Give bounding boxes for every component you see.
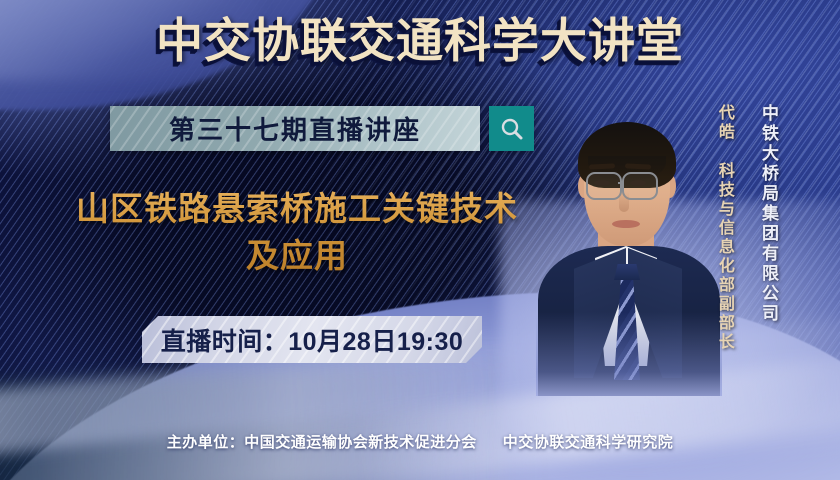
photo-glasses-left-lens — [586, 172, 622, 200]
photo-mouth — [612, 220, 640, 228]
footer-co-organizer: 中交协联交通科学研究院 — [503, 434, 674, 451]
photo-glasses-bridge — [618, 182, 624, 184]
session-label-text: 第三十七期直播讲座 — [169, 110, 421, 147]
live-time-text: 直播时间：10月28日19:30 — [161, 322, 464, 358]
lecture-topic-line-1: 山区铁路悬索桥施工关键技术 — [24, 186, 570, 233]
live-time-bar: 直播时间：10月28日19:30 — [142, 316, 482, 363]
search-button[interactable] — [489, 106, 534, 151]
session-label-bar: 第三十七期直播讲座 — [110, 106, 480, 151]
main-title-container: 中交协联交通科学大讲堂 — [0, 16, 840, 65]
speaker-organization: 中铁大桥局集团有限公司 — [758, 104, 778, 324]
photo-nose — [619, 192, 629, 212]
footer-organizers: 主办单位：中国交通运输协会新技术促进分会中交协联交通科学研究院 — [0, 431, 840, 452]
footer-organizer-label: 主办单位：中国交通运输协会新技术促进分会 — [167, 434, 477, 451]
search-icon — [499, 116, 525, 142]
lecture-topic-line-2: 及应用 — [24, 233, 570, 280]
photo-necktie-knot — [614, 264, 640, 280]
speaker-name-and-role: 代皓 科技与信息化部副部长 — [714, 104, 733, 352]
lecture-topic: 山区铁路悬索桥施工关键技术 及应用 — [24, 186, 570, 280]
live-lecture-poster: 中交协联交通科学大讲堂 第三十七期直播讲座 山区铁路悬索桥施工关键技术 及应用 … — [0, 0, 840, 480]
main-title: 中交协联交通科学大讲堂 — [156, 16, 684, 65]
